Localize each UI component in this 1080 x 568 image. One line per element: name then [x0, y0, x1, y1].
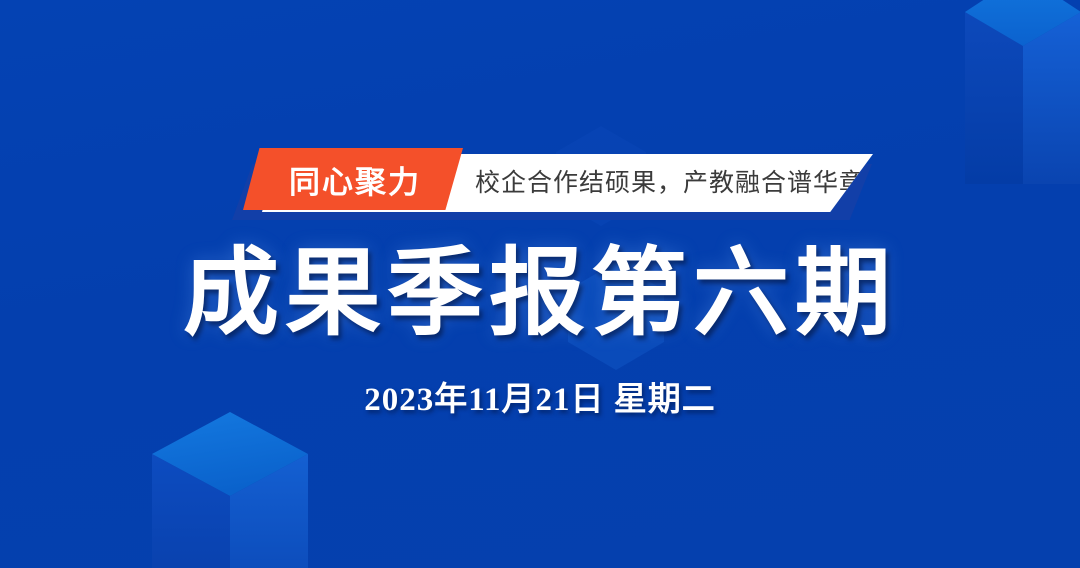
poster-canvas: 校企合作结硕果，产教融合谱华章 同心聚力 成果季报第六期 2023年11月21日…	[0, 0, 1080, 568]
date-text: 2023年11月21日 星期二	[364, 372, 715, 420]
title-block: 成果季报第六期	[0, 243, 1080, 345]
ribbon-tag-text: 同心聚力	[243, 148, 463, 210]
page-title: 成果季报第六期	[183, 243, 897, 345]
date-block: 2023年11月21日 星期二	[0, 372, 1080, 420]
ribbon-slogan-text: 校企合作结硕果，产教融合谱华章	[475, 154, 865, 212]
cube-icon	[150, 412, 310, 568]
ribbon-banner: 校企合作结硕果，产教融合谱华章 同心聚力	[0, 148, 1080, 226]
ribbon-tag: 同心聚力	[243, 148, 463, 210]
